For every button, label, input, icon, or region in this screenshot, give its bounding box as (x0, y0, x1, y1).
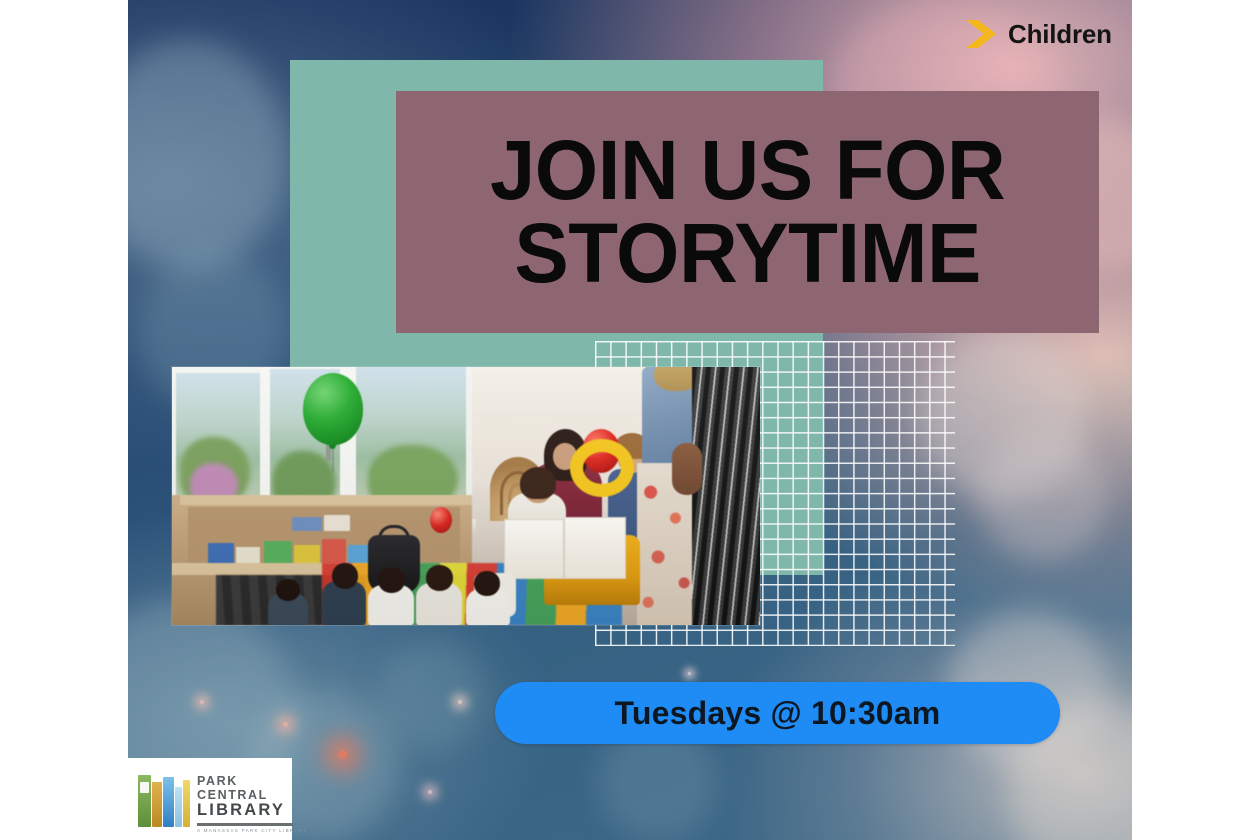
library-logo: PARK CENTRAL LIBRARY A MANASSAS PARK CIT… (128, 758, 292, 840)
schedule-text: Tuesdays @ 10:30am (615, 695, 941, 732)
storytime-flyer-poster: JOIN US FOR STORYTIME (128, 0, 1132, 840)
logo-books-icon (138, 771, 190, 827)
storytime-photo (172, 367, 760, 625)
logo-line-1: PARK CENTRAL (197, 775, 308, 802)
chevron-right-icon (964, 17, 1004, 51)
logo-wordmark: PARK CENTRAL LIBRARY A MANASSAS PARK CIT… (197, 765, 308, 832)
logo-book-yellow (183, 780, 190, 827)
logo-book-gold (152, 782, 162, 827)
audience-tag-label: Children (1008, 19, 1112, 50)
title-panel: JOIN US FOR STORYTIME (396, 91, 1099, 333)
audience-tag: Children (964, 17, 1112, 51)
logo-book-lightblue (175, 787, 182, 827)
schedule-pill[interactable]: Tuesdays @ 10:30am (495, 682, 1060, 744)
logo-line-2: LIBRARY (197, 802, 308, 819)
flyer-canvas: JOIN US FOR STORYTIME (0, 0, 1260, 840)
page-title: JOIN US FOR STORYTIME (490, 129, 1005, 295)
logo-book-white-label (140, 782, 149, 793)
logo-divider (197, 823, 293, 826)
logo-book-blue (163, 777, 174, 827)
photo-softening-overlay (172, 367, 760, 625)
logo-tagline: A MANASSAS PARK CITY LIBRARY (197, 828, 308, 833)
